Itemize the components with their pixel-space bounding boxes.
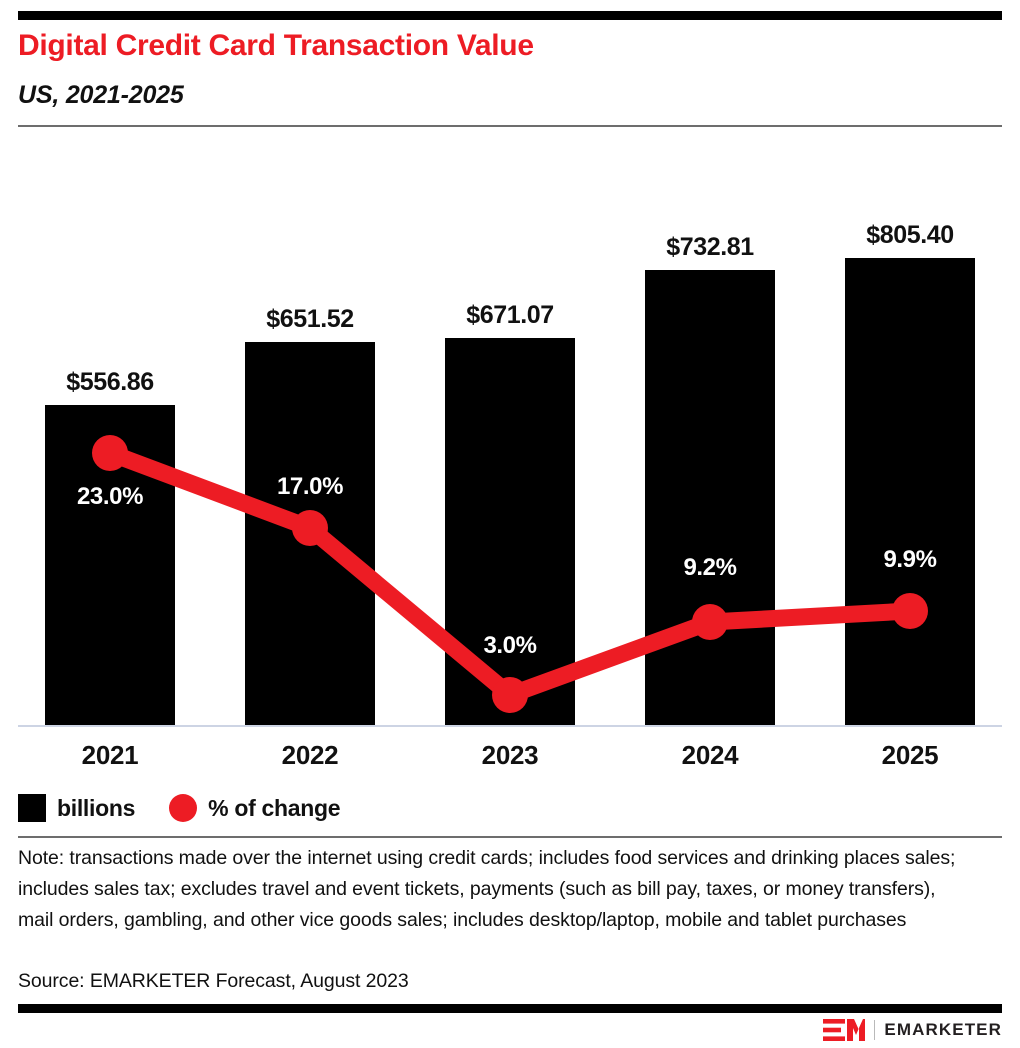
emarketer-logo: EMARKETER	[823, 1018, 1002, 1042]
x-axis-baseline	[18, 725, 1002, 727]
x-tick-2021: 2021	[35, 740, 185, 771]
circle-swatch-icon	[169, 794, 197, 822]
brand-name: EMARKETER	[884, 1020, 1002, 1040]
em-monogram-icon	[823, 1019, 865, 1041]
x-tick-2022: 2022	[235, 740, 385, 771]
brand-separator	[874, 1020, 875, 1040]
legend-item-billions: billions	[18, 794, 135, 822]
chart-legend: billions % of change	[18, 794, 340, 822]
x-tick-2025: 2025	[835, 740, 985, 771]
legend-item-percent-change: % of change	[169, 794, 340, 822]
chart-note: Note: transactions made over the interne…	[18, 843, 968, 936]
pct-label-2022: 17.0%	[235, 473, 385, 501]
pct-label-2024: 9.2%	[635, 554, 785, 582]
chart-page: Digital Credit Card Transaction Value US…	[0, 0, 1020, 1048]
x-tick-2023: 2023	[435, 740, 585, 771]
pct-label-2025: 9.9%	[835, 546, 985, 574]
x-tick-2024: 2024	[635, 740, 785, 771]
pct-label-2023: 3.0%	[435, 632, 585, 660]
plot-area: $556.86 $651.52 $671.07 $732.81 $805.40 …	[0, 150, 1020, 730]
top-rule	[18, 11, 1002, 20]
footer-divider	[18, 836, 1002, 838]
chart-source: Source: EMARKETER Forecast, August 2023	[18, 967, 968, 995]
page-title: Digital Credit Card Transaction Value	[18, 28, 978, 64]
pct-label-2021: 23.0%	[35, 483, 185, 511]
chart-subtitle: US, 2021-2025	[18, 80, 978, 110]
square-swatch-icon	[18, 794, 46, 822]
header-divider	[18, 125, 1002, 127]
bottom-rule	[18, 1004, 1002, 1013]
legend-label-billions: billions	[57, 795, 135, 822]
legend-label-percent-change: % of change	[208, 795, 340, 822]
